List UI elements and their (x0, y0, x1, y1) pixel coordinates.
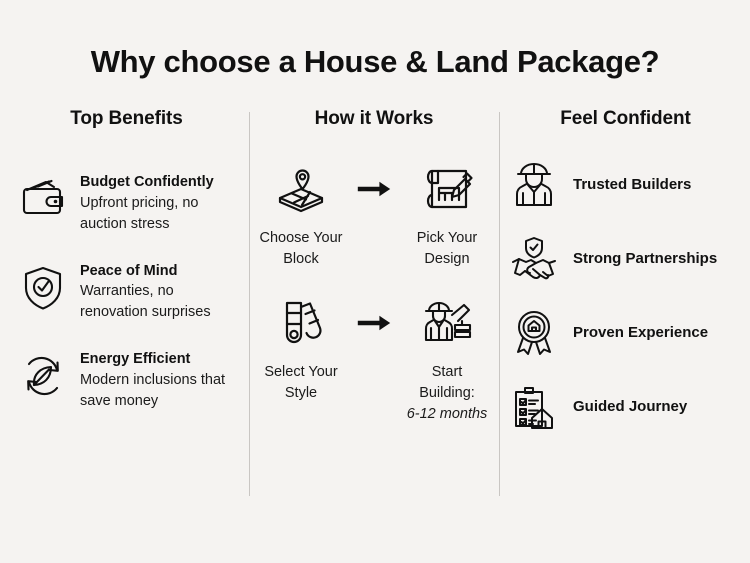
blueprint-pencil-icon (418, 160, 476, 218)
benefit-text: Peace of Mind Warranties, no renovation … (80, 261, 235, 324)
column-heading-process: How it Works (257, 108, 491, 130)
map-pin-icon (272, 160, 330, 218)
page-title: Why choose a House & Land Package? (0, 44, 750, 80)
benefit-item: Budget Confidently Upfront pricing, no a… (18, 172, 235, 235)
arrow-right-icon (345, 294, 403, 352)
wallet-icon (18, 174, 68, 224)
column-top-benefits: Top Benefits Budget Confidently Upfront (0, 108, 249, 508)
column-heading-confidence: Feel Confident (509, 108, 742, 130)
clipboard-checklist-house-icon (509, 382, 559, 432)
builder-person-icon (509, 160, 559, 210)
confidence-label: Guided Journey (573, 397, 687, 417)
benefit-title: Energy Efficient (80, 350, 235, 370)
process-step-label-line1: Select Your (257, 362, 345, 383)
benefit-description: Warranties, no renovation surprises (80, 281, 235, 323)
process-step-label-line1: Start Building: (403, 362, 491, 404)
process-step: Pick Your Design (403, 160, 491, 270)
benefit-item: Peace of Mind Warranties, no renovation … (18, 261, 235, 324)
column-how-it-works: How it Works Choos (249, 108, 499, 508)
recycle-leaf-icon (18, 351, 68, 401)
confidence-list: Trusted Builders (509, 160, 742, 432)
infographic-page: Why choose a House & Land Package? Top B… (0, 0, 750, 563)
benefit-item: Energy Efficient Modern inclusions that … (18, 349, 235, 412)
confidence-label: Proven Experience (573, 323, 708, 343)
process-step-label-line2: 6-12 months (403, 404, 491, 425)
benefit-text: Energy Efficient Modern inclusions that … (80, 349, 235, 412)
process-steps: Choose Your Block (257, 160, 491, 425)
color-swatch-fan-icon (272, 294, 330, 352)
confidence-item: Trusted Builders (509, 160, 742, 210)
confidence-item: Proven Experience (509, 308, 742, 358)
shield-check-icon (18, 263, 68, 313)
confidence-label: Strong Partnerships (573, 249, 717, 269)
arrow-right-icon (345, 160, 403, 218)
column-feel-confident: Feel Confident Trusted Builders (499, 108, 750, 508)
handshake-shield-icon (509, 234, 559, 284)
confidence-item: Strong Partnerships (509, 234, 742, 284)
process-step: Select Your Style (257, 294, 345, 404)
benefit-title: Budget Confidently (80, 173, 235, 193)
process-step-label-line1: Pick Your (403, 228, 491, 249)
benefit-title: Peace of Mind (80, 262, 235, 282)
process-row: Choose Your Block (257, 160, 491, 270)
confidence-item: Guided Journey (509, 382, 742, 432)
process-step-label-line1: Choose Your (257, 228, 345, 249)
confidence-label: Trusted Builders (573, 175, 691, 195)
benefit-text: Budget Confidently Upfront pricing, no a… (80, 172, 235, 235)
process-step: Choose Your Block (257, 160, 345, 270)
bricklayer-icon (418, 294, 476, 352)
process-row: Select Your Style (257, 294, 491, 425)
benefit-description: Upfront pricing, no auction stress (80, 193, 235, 235)
process-step-label-line2: Block (257, 249, 345, 270)
award-ribbon-house-icon (509, 308, 559, 358)
process-step-label-line2: Design (403, 249, 491, 270)
process-step-label-line2: Style (257, 383, 345, 404)
process-step: Start Building: 6-12 months (403, 294, 491, 425)
benefit-description: Modern inclusions that save money (80, 370, 235, 412)
columns-container: Top Benefits Budget Confidently Upfront (0, 108, 750, 508)
column-heading-benefits: Top Benefits (18, 108, 235, 130)
benefit-list: Budget Confidently Upfront pricing, no a… (18, 172, 235, 412)
